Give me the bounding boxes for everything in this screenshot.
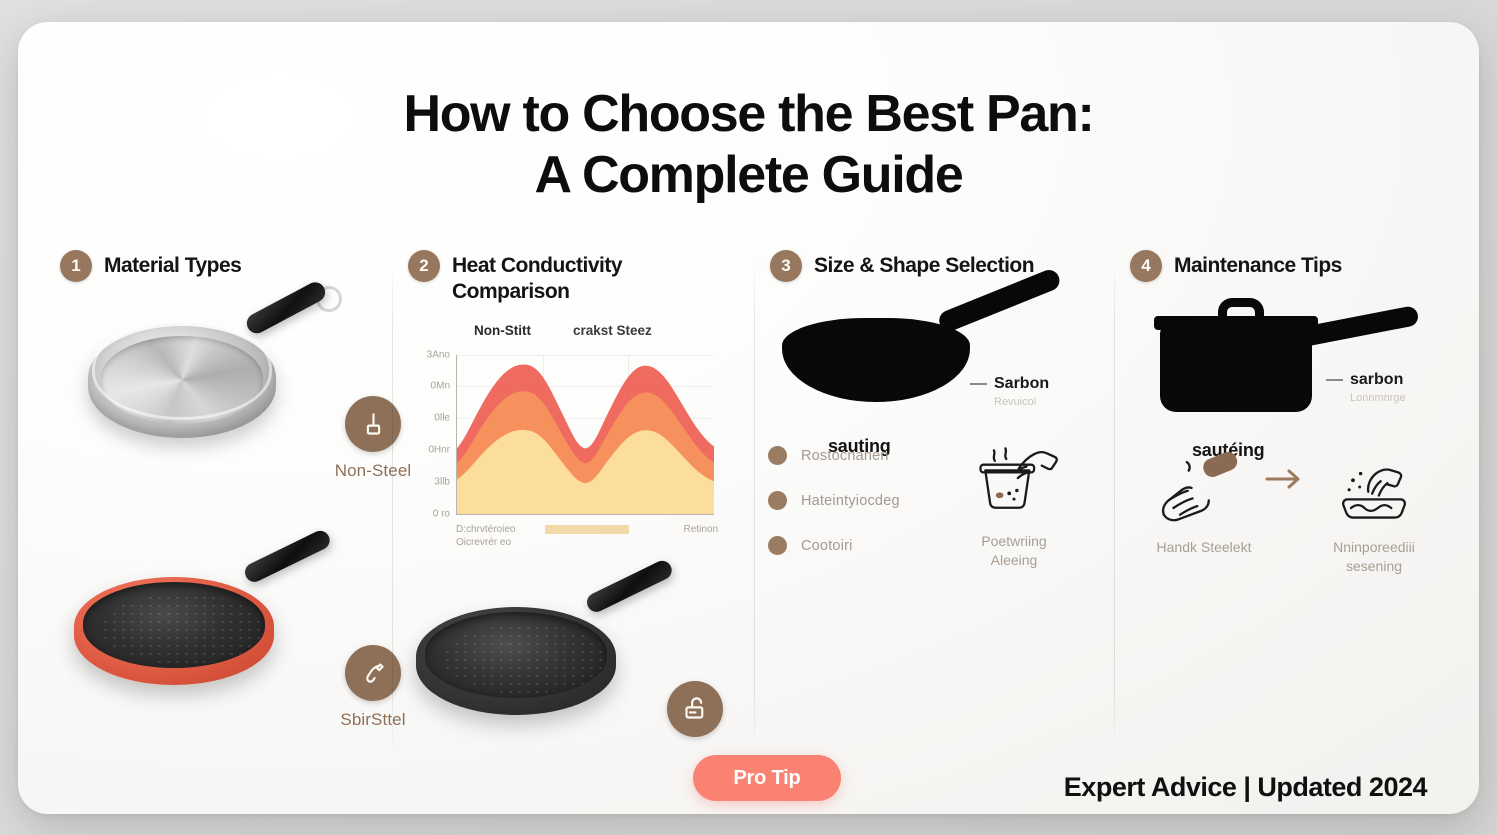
pro-tip-button[interactable]: Pro Tip [693, 755, 841, 801]
column-divider [754, 260, 755, 752]
stockpot-with-lid-silhouette [1160, 298, 1450, 416]
chart-xtick-0: D:chrvtéroieo Oicrevrér eo [456, 523, 540, 550]
pan-handle [242, 528, 333, 585]
chart-ytick-0: 0 ro [433, 508, 450, 519]
bullet-label: Hateintyiocdeg [801, 493, 900, 509]
chart-xtick-1 [545, 525, 629, 534]
bullet-label: Cootoiri [801, 538, 853, 554]
chart-ytick-3: 0lle [434, 413, 450, 424]
handwashing-icon-caption: Poetwriing Aleeing [944, 532, 1084, 570]
pan-interior [425, 612, 607, 698]
section-2-title-line1: Heat Conductivity [452, 253, 622, 279]
skillet-body [782, 318, 970, 402]
page-title-line2: A Complete Guide [18, 145, 1479, 206]
section-heat-conductivity: 2 Heat Conductivity Comparison Non-Stitt… [392, 250, 754, 750]
hand-seasoning-caption-line2: sesening [1304, 557, 1444, 576]
chart-xtick-2: Retinon [634, 523, 718, 550]
chart-xtick-row: D:chrvtéroieo Oicrevrér eo Retinon [456, 523, 718, 550]
stockpot-annotation-main: sarbon [1350, 370, 1406, 389]
bullet-label: Rostocnanen [801, 448, 889, 464]
bullet-dot-icon [768, 491, 787, 510]
stockpot-annotation-sub: Lonnmnrge [1350, 392, 1406, 405]
section-3-title: Size & Shape Selection [814, 250, 1034, 279]
infographic-canvas: How to Choose the Best Pan: A Complete G… [0, 0, 1497, 835]
page-title-line1: How to Choose the Best Pan: [18, 84, 1479, 145]
hand-seasoning-caption-line1: Nninporeediii [1304, 538, 1444, 557]
section-1-title: Material Types [104, 250, 241, 279]
chart-area-paths [457, 355, 714, 514]
section-4-header: 4 Maintenance Tips [1130, 250, 1438, 282]
pan-nonstick-texture [101, 594, 265, 664]
bullet-dot-icon [768, 446, 787, 465]
hand-drying-with-towel-icon [1156, 442, 1252, 530]
stockpot-lid-knob [1218, 298, 1264, 322]
pan-nonstick-texture [443, 624, 607, 694]
handwashing-caption-line2: Aleeing [944, 551, 1084, 570]
pan-body [88, 326, 276, 438]
bullet-dot-icon [768, 536, 787, 555]
hand-seasoning-icon-caption: Nninporeediii sesening [1304, 538, 1444, 576]
chart-legend-item-2: crakst Steez [573, 323, 652, 338]
chart-ytick-1: 3llb [434, 476, 450, 487]
list-item: Cootoiri [768, 536, 900, 555]
heat-pan-block [408, 581, 738, 786]
chart-legend-item-1: Non-Stitt [474, 323, 531, 338]
nonstick-red-frying-pan-image [74, 559, 309, 689]
annotation-leader-line [1326, 379, 1343, 381]
section-1-number-badge: 1 [60, 250, 92, 282]
hand-seasoning-pan-icon [1326, 442, 1422, 530]
chart-ytick-4: 0Mn [431, 381, 450, 392]
size-shape-bullet-list: Rostocnanen Hateintyiocdeg Cootoiri [768, 446, 900, 581]
section-2-number-badge: 2 [408, 250, 440, 282]
skillet-annotation-sub: Revuicoi [994, 396, 1049, 409]
pan-handle [584, 557, 675, 614]
section-3-number-badge: 3 [770, 250, 802, 282]
stockpot-annotation: sarbon Lonnmnrge [1326, 370, 1406, 405]
hand-drying-icon-caption: Handk Steelekt [1134, 538, 1274, 557]
column-divider [392, 260, 393, 752]
heat-conductivity-chart: Non-Stitt crakst Steez 3Ano 0Mn 0lle 0Hn… [408, 327, 730, 555]
pan-handle [243, 279, 328, 337]
section-1-header: 1 Material Types [60, 250, 376, 282]
pan-interior [83, 582, 265, 668]
hand-washing-pot-icon [966, 436, 1062, 524]
section-4-title: Maintenance Tips [1174, 250, 1342, 279]
section-4-number-badge: 4 [1130, 250, 1162, 282]
section-material-types: 1 Material Types [44, 250, 392, 750]
stockpot-body [1160, 324, 1312, 412]
page-title: How to Choose the Best Pan: A Complete G… [18, 84, 1479, 207]
chart-legend: Non-Stitt crakst Steez [408, 323, 730, 338]
chart-plot-area: 3Ano 0Mn 0lle 0Hnr 3llb 0 ro [456, 355, 714, 515]
nonstick-black-frying-pan-image [416, 589, 651, 719]
skillet-annotation-main: Sarbon [994, 374, 1049, 393]
handwashing-icon-cell: Poetwriing Aleeing [944, 436, 1084, 570]
infographic-card: How to Choose the Best Pan: A Complete G… [18, 22, 1479, 814]
stainless-steel-frying-pan-image [88, 316, 303, 446]
arrow-between-icons [1264, 468, 1304, 495]
annotation-leader-line [970, 383, 987, 385]
chart-ytick-2: 0Hnr [428, 445, 450, 456]
heat-chip-lock[interactable] [640, 681, 750, 746]
pan-body [74, 577, 274, 685]
padlock-icon [667, 681, 723, 737]
handwashing-caption-line1: Poetwriing [944, 532, 1084, 551]
section-size-shape: 3 Size & Shape Selection Sarbon Revuicoi [754, 250, 1114, 750]
pan-body [416, 607, 616, 715]
section-maintenance-tips: 4 Maintenance Tips sarbon Lonnm [1114, 250, 1454, 750]
sections-row: 1 Material Types [44, 250, 1454, 750]
skillet-annotation: Sarbon Revuicoi [970, 374, 1049, 409]
pan-interior [101, 336, 263, 424]
chart-ytick-5: 3Ano [427, 349, 450, 360]
section-2-title: Heat Conductivity Comparison [452, 250, 622, 305]
right-arrow-icon [1264, 468, 1304, 490]
hand-drying-caption-line1: Handk Steelekt [1134, 538, 1274, 557]
material-pan-bottom-block: SbirSttel [60, 549, 376, 754]
hand-drying-icon-cell: Handk Steelekt [1134, 442, 1274, 557]
column-divider [1114, 260, 1115, 752]
section-2-title-line2: Comparison [452, 279, 622, 305]
section-2-header: 2 Heat Conductivity Comparison [408, 250, 738, 305]
list-item: Rostocnanen [768, 446, 900, 465]
material-pan-top-block: Non-Steel [60, 292, 376, 497]
footer-note: Expert Advice | Updated 2024 [1064, 772, 1427, 803]
list-item: Hateintyiocdeg [768, 491, 900, 510]
hand-seasoning-icon-cell: Nninporeediii sesening [1304, 442, 1444, 576]
